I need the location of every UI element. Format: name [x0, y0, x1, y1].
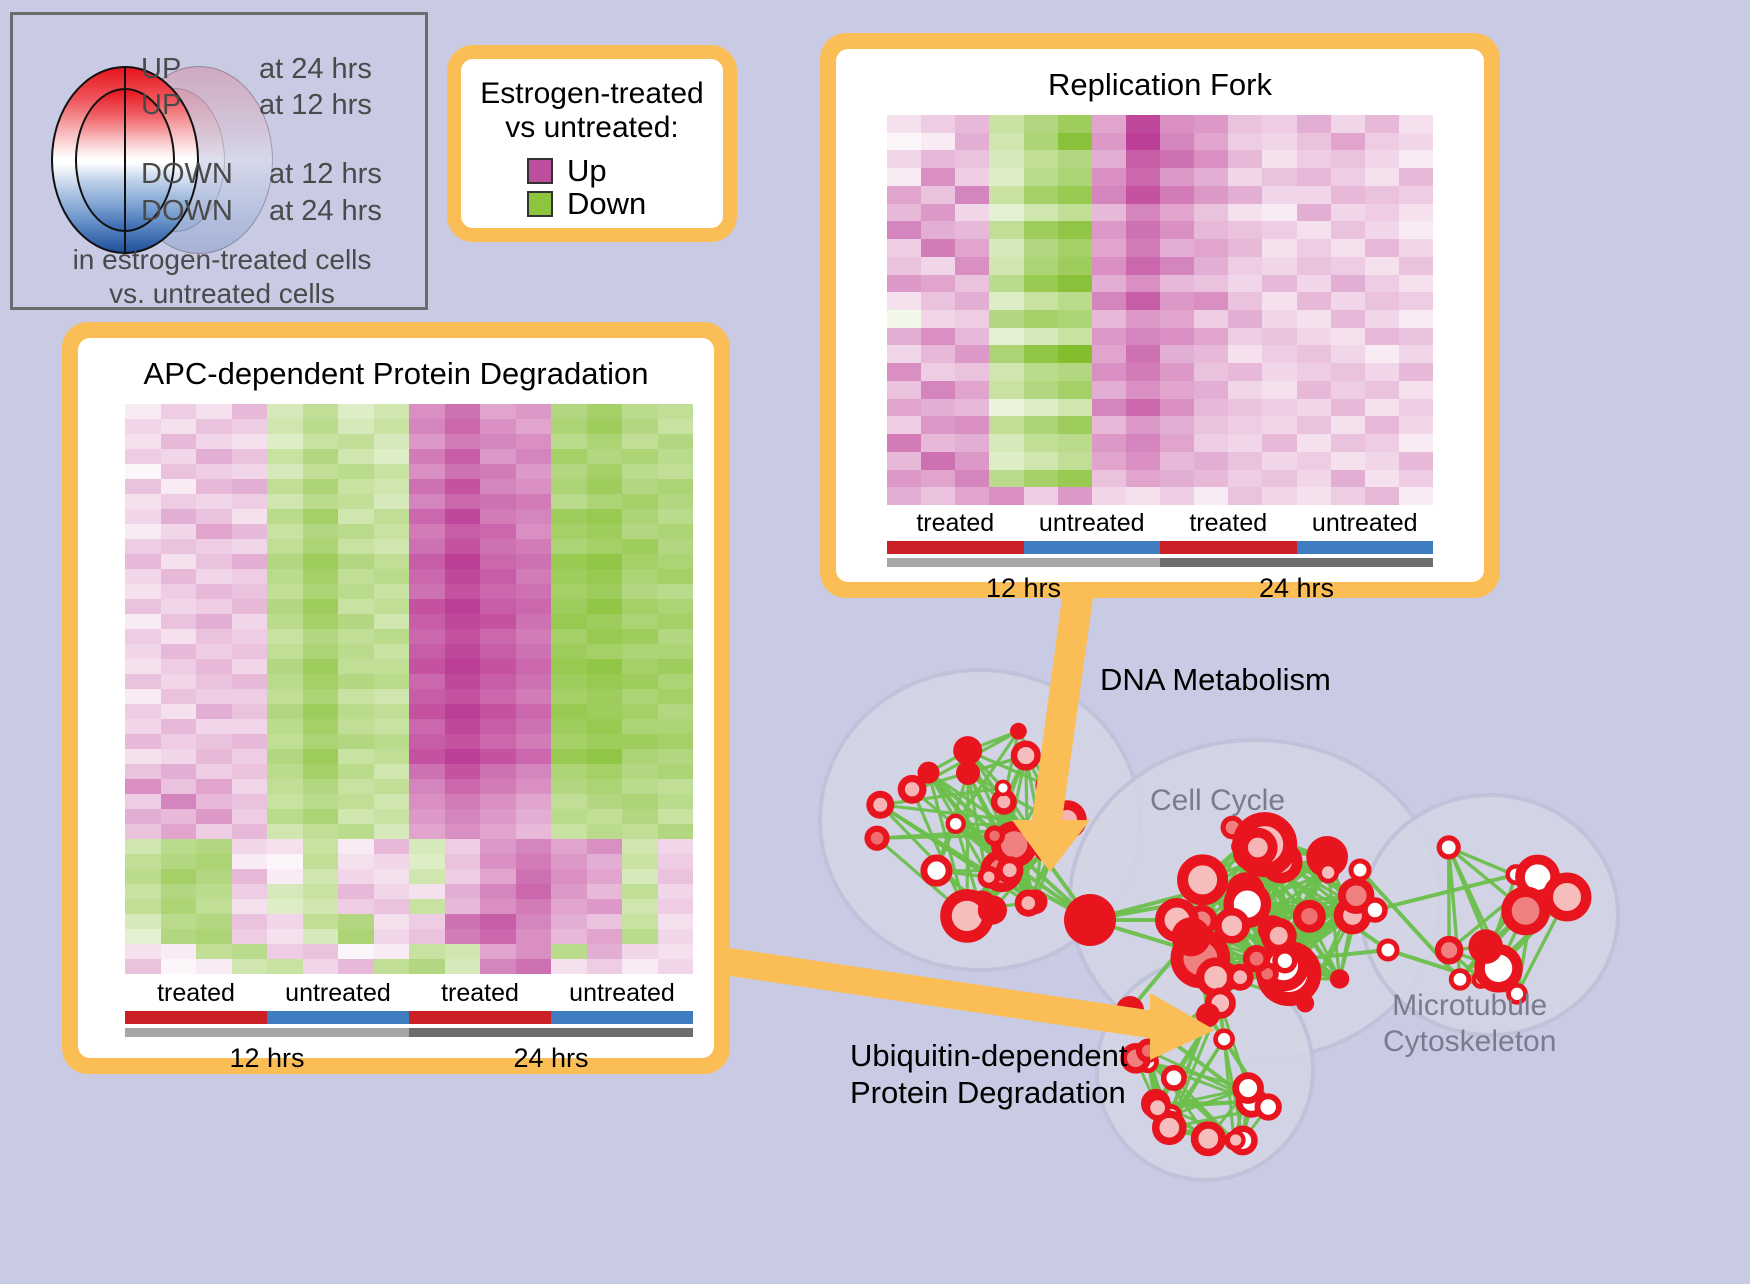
- network-node[interactable]: [1196, 1003, 1220, 1027]
- heatmap-cell: [125, 434, 161, 449]
- heatmap-cell: [338, 779, 374, 794]
- heatmap-cell: [955, 133, 989, 151]
- heatmap-cell: [1331, 399, 1365, 417]
- heatmap-cell: [445, 824, 481, 839]
- heatmap-cell: [374, 524, 410, 539]
- heatmap-cell: [445, 659, 481, 674]
- network-node[interactable]: [1195, 1125, 1222, 1152]
- heatmap-cell: [516, 869, 552, 884]
- heatmap-cell: [587, 779, 623, 794]
- heatmap-cell: [1160, 133, 1194, 151]
- heatmap-cell: [196, 584, 232, 599]
- heatmap-cell: [480, 884, 516, 899]
- heatmap-cell: [161, 794, 197, 809]
- heatmap-cell: [1126, 363, 1160, 381]
- heatmap-cell: [1126, 115, 1160, 133]
- heatmap-cell: [374, 689, 410, 704]
- condition-label: treated: [409, 979, 551, 1008]
- heatmap-cell: [587, 674, 623, 689]
- heatmap-cell: [551, 629, 587, 644]
- network-node[interactable]: [1064, 894, 1116, 946]
- heatmap-cell: [516, 914, 552, 929]
- heatmap-cell: [1228, 416, 1262, 434]
- heatmap-cell: [587, 494, 623, 509]
- network-node[interactable]: [1116, 996, 1144, 1024]
- heatmap-cell: [267, 569, 303, 584]
- network-node[interactable]: [1228, 1132, 1244, 1148]
- cluster-label-cell-cycle: Cell Cycle: [1150, 784, 1285, 818]
- heatmap-cell: [658, 959, 694, 974]
- heatmap-cell: [989, 416, 1023, 434]
- heatmap-cell: [658, 554, 694, 569]
- heatmap-cell: [1399, 399, 1433, 417]
- heatmap-cell: [480, 794, 516, 809]
- network-node[interactable]: [1365, 900, 1385, 920]
- time-bar-12hrs: [887, 558, 1160, 567]
- legend-tag: DOWN: [141, 158, 233, 191]
- heatmap-cell: [125, 689, 161, 704]
- heatmap-cell: [232, 779, 268, 794]
- heatmap-cell: [622, 779, 658, 794]
- heatmap-cell: [658, 794, 694, 809]
- condition-bar-untreated-24: [551, 1011, 693, 1024]
- heatmap-cell: [551, 494, 587, 509]
- heatmap-cell: [338, 419, 374, 434]
- heatmap-cell: [1092, 399, 1126, 417]
- heatmap-cell: [338, 644, 374, 659]
- heatmap-cell: [232, 434, 268, 449]
- heatmap-cell: [587, 944, 623, 959]
- heatmap-cell: [125, 794, 161, 809]
- heatmap-cell: [516, 419, 552, 434]
- heatmap-cell: [989, 310, 1023, 328]
- heatmap-cell: [267, 659, 303, 674]
- heatmap-cell: [338, 689, 374, 704]
- heatmap-cell: [921, 328, 955, 346]
- condition-label: untreated: [267, 979, 409, 1008]
- heatmap-cell: [1126, 150, 1160, 168]
- network-svg: [800, 620, 1750, 1279]
- heatmap-cell: [409, 719, 445, 734]
- heatmap-cell: [267, 494, 303, 509]
- network-node[interactable]: [1164, 1068, 1184, 1088]
- network-node[interactable]: [1275, 951, 1295, 971]
- network-node-core: [1040, 847, 1050, 857]
- heatmap-cell: [921, 381, 955, 399]
- heatmap-cell: [303, 749, 339, 764]
- network-node[interactable]: [1320, 864, 1337, 881]
- heatmap-cell: [1297, 133, 1331, 151]
- network-node[interactable]: [1236, 1076, 1261, 1101]
- heatmap-cell: [125, 899, 161, 914]
- heatmap-cell: [480, 524, 516, 539]
- network-node[interactable]: [1216, 1031, 1233, 1048]
- heatmap-cell: [267, 554, 303, 569]
- heatmap-cell: [232, 614, 268, 629]
- heatmap-cell: [125, 719, 161, 734]
- heatmap-cell: [1262, 204, 1296, 222]
- heatmap-cell: [303, 839, 339, 854]
- heatmap-cell: [161, 644, 197, 659]
- heatmap-cell: [955, 381, 989, 399]
- heatmap-cell: [161, 494, 197, 509]
- heatmap-cell: [1331, 452, 1365, 470]
- network-node[interactable]: [1351, 861, 1369, 879]
- heatmap-cell: [1399, 416, 1433, 434]
- heatmap-cell: [1194, 204, 1228, 222]
- heatmap-cell: [1297, 186, 1331, 204]
- network-node[interactable]: [997, 781, 1010, 794]
- heatmap-cell: [587, 689, 623, 704]
- heatmap-cell: [1126, 381, 1160, 399]
- heatmap-cell: [303, 539, 339, 554]
- heatmap-cell: [232, 659, 268, 674]
- condition-bar-treated-12: [125, 1011, 267, 1024]
- heatmap-cell: [1024, 363, 1058, 381]
- heatmap-cell: [955, 399, 989, 417]
- heatmap-cell: [338, 569, 374, 584]
- heatmap-cell: [1331, 345, 1365, 363]
- heatmap-cell: [551, 749, 587, 764]
- heatmap-cell: [338, 884, 374, 899]
- heatmap-cell: [921, 257, 955, 275]
- heatmap-cell: [267, 629, 303, 644]
- heatmap-cell: [1058, 186, 1092, 204]
- color-key-items: Up Down: [471, 155, 713, 219]
- heatmap-cell: [1126, 257, 1160, 275]
- heatmap-cell: [1024, 239, 1058, 257]
- heatmap-cell: [622, 569, 658, 584]
- heatmap-cell: [374, 479, 410, 494]
- heatmap-cell: [374, 404, 410, 419]
- heatmap-cell: [374, 509, 410, 524]
- heatmap-cell: [658, 689, 694, 704]
- network-node[interactable]: [1014, 744, 1038, 768]
- heatmap-cell: [551, 734, 587, 749]
- heatmap-cell: [887, 452, 921, 470]
- heatmap-cell: [622, 404, 658, 419]
- heatmap-cell: [551, 524, 587, 539]
- heatmap-cell: [196, 494, 232, 509]
- heatmap-cell: [1399, 204, 1433, 222]
- heatmap-cell: [1228, 204, 1262, 222]
- heatmap-cell: [587, 959, 623, 974]
- ubiquitin-line-2: Protein Degradation: [850, 1074, 1128, 1111]
- heatmap-cell: [587, 524, 623, 539]
- heatmap-cell: [1092, 257, 1126, 275]
- network-node[interactable]: [1258, 1096, 1279, 1117]
- heatmap-cell: [445, 839, 481, 854]
- replication-condition-labels: treated untreated treated untreated: [887, 509, 1433, 538]
- heatmap-cell: [1194, 381, 1228, 399]
- network-node[interactable]: [1010, 723, 1027, 740]
- heatmap-cell: [955, 310, 989, 328]
- heatmap-cell: [303, 479, 339, 494]
- heatmap-cell: [1399, 452, 1433, 470]
- heatmap-cell: [1262, 363, 1296, 381]
- network-node[interactable]: [978, 895, 1007, 924]
- heatmap-cell: [445, 779, 481, 794]
- network-node-core: [1233, 970, 1247, 984]
- heatmap-cell: [1194, 221, 1228, 239]
- heatmap-cell: [409, 539, 445, 554]
- heatmap-cell: [125, 779, 161, 794]
- network-node[interactable]: [1296, 994, 1314, 1012]
- heatmap-cell: [125, 959, 161, 974]
- heatmap-cell: [989, 452, 1023, 470]
- heatmap-cell: [1365, 434, 1399, 452]
- network-node[interactable]: [1438, 939, 1460, 961]
- heatmap-cell: [1365, 328, 1399, 346]
- replication-time-bar: [887, 558, 1433, 567]
- heatmap-cell: [921, 115, 955, 133]
- heatmap-cell: [196, 569, 232, 584]
- heatmap-cell: [196, 809, 232, 824]
- heatmap-cell: [1160, 452, 1194, 470]
- heatmap-cell: [232, 899, 268, 914]
- heatmap-cell: [516, 764, 552, 779]
- heatmap-cell: [1194, 275, 1228, 293]
- heatmap-cell: [125, 449, 161, 464]
- heatmap-cell: [1365, 399, 1399, 417]
- heatmap-cell: [658, 749, 694, 764]
- network-node[interactable]: [1468, 929, 1503, 964]
- heatmap-cell: [374, 434, 410, 449]
- color-key-item-up: Up: [527, 155, 713, 186]
- heatmap-cell: [374, 494, 410, 509]
- heatmap-cell: [1228, 487, 1262, 505]
- heatmap-cell: [303, 569, 339, 584]
- heatmap-cell: [161, 629, 197, 644]
- heatmap-cell: [196, 914, 232, 929]
- network-node[interactable]: [956, 761, 980, 785]
- heatmap-cell: [338, 629, 374, 644]
- heatmap-cell: [1024, 292, 1058, 310]
- heatmap-cell: [1297, 381, 1331, 399]
- heatmap-cell: [125, 869, 161, 884]
- heatmap-cell: [267, 689, 303, 704]
- heatmap-cell: [516, 554, 552, 569]
- heatmap-cell: [622, 794, 658, 809]
- apc-time-labels: 12 hrs 24 hrs: [125, 1043, 693, 1074]
- heatmap-cell: [887, 434, 921, 452]
- heatmap-cell: [551, 959, 587, 974]
- network-node[interactable]: [924, 858, 949, 883]
- cluster-label-microtubule-cytoskeleton: Microtubule Cytoskeleton: [1383, 988, 1556, 1060]
- heatmap-cell: [587, 764, 623, 779]
- heatmap-cell: [267, 779, 303, 794]
- network-node-core: [1270, 927, 1288, 945]
- heatmap-cell: [374, 854, 410, 869]
- heatmap-cell: [1228, 133, 1262, 151]
- heatmap-cell: [1228, 221, 1262, 239]
- heatmap-cell: [267, 599, 303, 614]
- heatmap-cell: [587, 929, 623, 944]
- heatmap-cell: [1297, 434, 1331, 452]
- heatmap-cell: [1126, 328, 1160, 346]
- heatmap-cell: [1262, 221, 1296, 239]
- down-label: Down: [567, 188, 646, 219]
- heatmap-cell: [1058, 434, 1092, 452]
- heatmap-cell: [1228, 434, 1262, 452]
- heatmap-cell: [374, 929, 410, 944]
- heatmap-cell: [445, 464, 481, 479]
- heatmap-cell: [409, 659, 445, 674]
- heatmap-cell: [338, 734, 374, 749]
- heatmap-cell: [921, 363, 955, 381]
- heatmap-cell: [445, 509, 481, 524]
- heatmap-cell: [921, 399, 955, 417]
- heatmap-cell: [374, 599, 410, 614]
- heatmap-cell: [1262, 186, 1296, 204]
- network-node[interactable]: [1218, 912, 1246, 940]
- heatmap-cell: [1092, 328, 1126, 346]
- network-node[interactable]: [953, 736, 982, 765]
- heatmap-cell: [1228, 186, 1262, 204]
- heatmap-cell: [125, 464, 161, 479]
- heatmap-cell: [303, 629, 339, 644]
- heatmap-cell: [303, 614, 339, 629]
- heatmap-cell: [232, 479, 268, 494]
- heatmap-cell: [658, 539, 694, 554]
- heatmap-cell: [587, 434, 623, 449]
- heatmap-cell: [232, 959, 268, 974]
- heatmap-cell: [409, 434, 445, 449]
- heatmap-cell: [516, 779, 552, 794]
- color-key-title-line-1: Estrogen-treated: [471, 77, 713, 111]
- heatmap-cell: [622, 704, 658, 719]
- heatmap-cell: [196, 464, 232, 479]
- heatmap-cell: [587, 899, 623, 914]
- heatmap-cell: [232, 944, 268, 959]
- heatmap-cell: [587, 734, 623, 749]
- heatmap-cell: [303, 809, 339, 824]
- heatmap-cell: [587, 584, 623, 599]
- heatmap-cell: [196, 554, 232, 569]
- heatmap-cell: [551, 584, 587, 599]
- heatmap-cell: [445, 959, 481, 974]
- heatmap-cell: [622, 734, 658, 749]
- heatmap-cell: [1365, 310, 1399, 328]
- heatmap-cell: [1092, 310, 1126, 328]
- heatmap-cell: [1228, 239, 1262, 257]
- heatmap-cell: [1092, 416, 1126, 434]
- heatmap-cell: [622, 659, 658, 674]
- heatmap-cell: [887, 221, 921, 239]
- heatmap-cell: [1160, 487, 1194, 505]
- heatmap-cell: [1058, 221, 1092, 239]
- network-node[interactable]: [1507, 892, 1545, 930]
- heatmap-cell: [887, 416, 921, 434]
- heatmap-cell: [516, 509, 552, 524]
- heatmap-cell: [196, 719, 232, 734]
- legend-time: at 24 hrs: [269, 195, 382, 228]
- heatmap-cell: [267, 614, 303, 629]
- heatmap-cell: [658, 929, 694, 944]
- heatmap-cell: [1058, 257, 1092, 275]
- heatmap-cell: [445, 539, 481, 554]
- heatmap-cell: [1058, 275, 1092, 293]
- network-node[interactable]: [1172, 917, 1211, 956]
- heatmap-cell: [1194, 310, 1228, 328]
- heatmap-cell: [658, 659, 694, 674]
- heatmap-cell: [267, 464, 303, 479]
- heatmap-cell: [1126, 133, 1160, 151]
- network-node[interactable]: [1379, 941, 1397, 959]
- heatmap-cell: [1058, 310, 1092, 328]
- heatmap-cell: [480, 509, 516, 524]
- network-node[interactable]: [1439, 838, 1458, 857]
- heatmap-cell: [161, 689, 197, 704]
- heatmap-cell: [1228, 310, 1262, 328]
- heatmap-cell: [1194, 168, 1228, 186]
- heatmap-cell: [887, 328, 921, 346]
- heatmap-cell: [196, 749, 232, 764]
- heatmap-cell: [267, 749, 303, 764]
- heatmap-cell: [551, 659, 587, 674]
- network-node[interactable]: [948, 816, 964, 832]
- heatmap-cell: [303, 419, 339, 434]
- heatmap-cell: [374, 734, 410, 749]
- heatmap-cell: [587, 629, 623, 644]
- heatmap-cell: [267, 524, 303, 539]
- network-node[interactable]: [1548, 878, 1586, 916]
- heatmap-cell: [1331, 328, 1365, 346]
- network-node[interactable]: [1330, 969, 1349, 988]
- heatmap-cell: [551, 509, 587, 524]
- heatmap-cell: [338, 509, 374, 524]
- heatmap-cell: [955, 470, 989, 488]
- heatmap-cell: [921, 416, 955, 434]
- heatmap-cell: [887, 310, 921, 328]
- heatmap-cell: [955, 186, 989, 204]
- heatmap-cell: [989, 487, 1023, 505]
- heatmap-cell: [989, 470, 1023, 488]
- heatmap-cell: [516, 824, 552, 839]
- heatmap-cell: [1331, 381, 1365, 399]
- network-node[interactable]: [1451, 971, 1469, 989]
- heatmap-cell: [125, 914, 161, 929]
- heatmap-cell: [1160, 186, 1194, 204]
- heatmap-cell: [1194, 115, 1228, 133]
- heatmap-cell: [1092, 186, 1126, 204]
- network-node[interactable]: [1147, 1098, 1167, 1118]
- heatmap-cell: [374, 569, 410, 584]
- heatmap-cell: [1297, 204, 1331, 222]
- heatmap-cell: [658, 719, 694, 734]
- heatmap-cell: [1024, 470, 1058, 488]
- heatmap-cell: [1092, 345, 1126, 363]
- replication-condition-bar: [887, 541, 1433, 554]
- heatmap-cell: [480, 569, 516, 584]
- heatmap-cell: [374, 629, 410, 644]
- heatmap-cell: [1228, 363, 1262, 381]
- heatmap-cell: [480, 689, 516, 704]
- heatmap-cell: [1058, 328, 1092, 346]
- heatmap-cell: [551, 779, 587, 794]
- network-node[interactable]: [1183, 860, 1223, 900]
- heatmap-cell: [1365, 363, 1399, 381]
- heatmap-cell: [1228, 399, 1262, 417]
- heatmap-cell: [551, 944, 587, 959]
- heatmap-cell: [622, 719, 658, 734]
- circle-legend-caption: in estrogen-treated cells vs. untreated …: [13, 243, 431, 311]
- legend-tag: UP: [141, 53, 181, 86]
- heatmap-cell: [587, 884, 623, 899]
- heatmap-cell: [622, 824, 658, 839]
- heatmap-cell: [1262, 487, 1296, 505]
- heatmap-cell: [1399, 434, 1433, 452]
